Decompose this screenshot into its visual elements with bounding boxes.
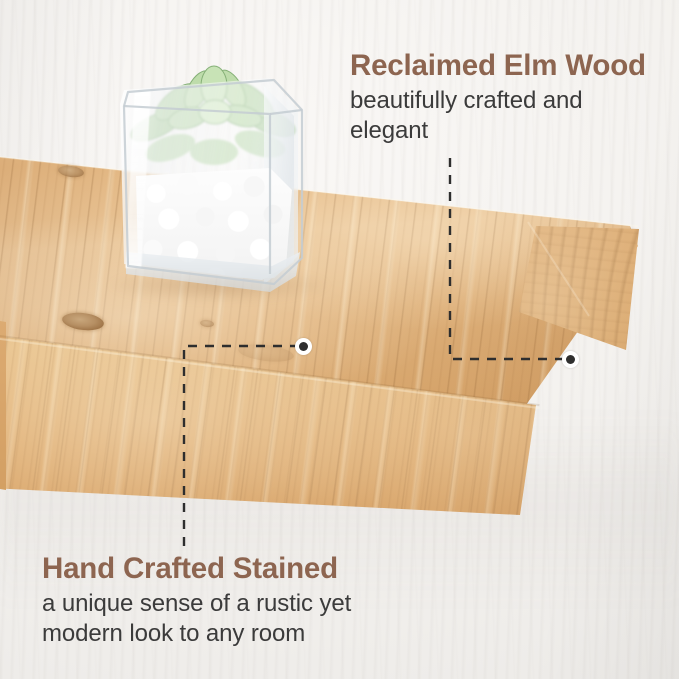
callout-body-line: modern look to any room <box>42 620 305 647</box>
callout-body-line: elegant <box>350 117 428 144</box>
callout-text-hand-crafted-stained: Hand Crafted Stained a unique sense of a… <box>42 553 351 649</box>
callout-body: a unique sense of a rustic yet modern lo… <box>42 589 351 649</box>
callout-dot-hand-crafted-stained[interactable] <box>295 338 312 355</box>
callout-body: beautifully crafted and elegant <box>350 86 646 146</box>
callout-heading: Reclaimed Elm Wood <box>350 50 646 82</box>
product-infographic: Reclaimed Elm Wood beautifully crafted a… <box>0 0 679 679</box>
glass-cube-planter <box>112 56 328 292</box>
callout-body-line: a unique sense of a rustic yet <box>42 590 351 617</box>
callout-heading: Hand Crafted Stained <box>42 553 351 585</box>
callout-body-line: beautifully crafted and <box>350 87 583 114</box>
callout-text-reclaimed-elm-wood: Reclaimed Elm Wood beautifully crafted a… <box>350 50 646 146</box>
callout-dot-reclaimed-elm-wood[interactable] <box>562 351 579 368</box>
